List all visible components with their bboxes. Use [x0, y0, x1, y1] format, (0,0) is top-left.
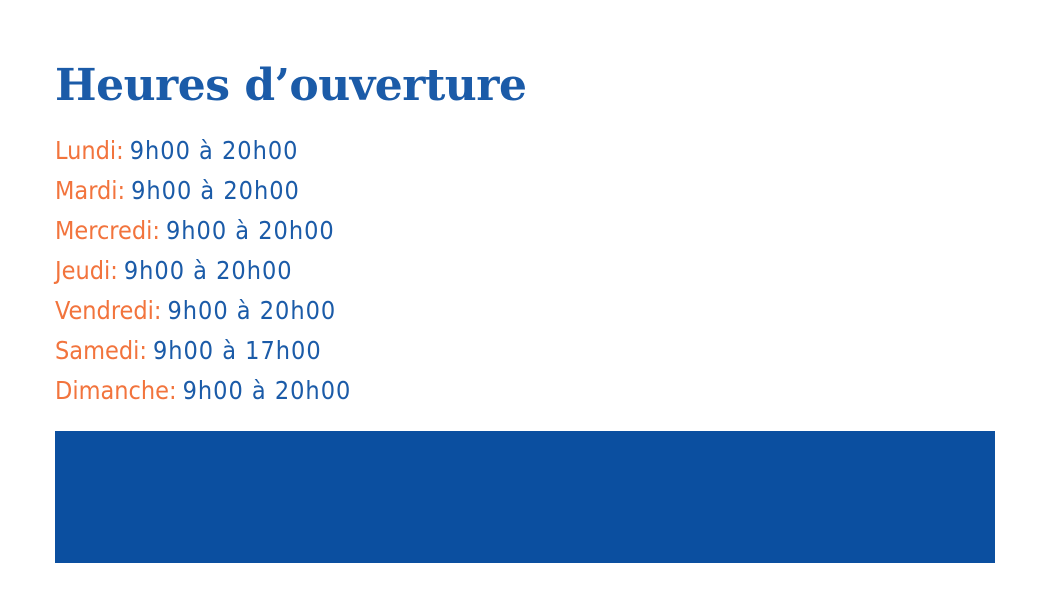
day-label: Mardi:: [55, 176, 125, 205]
day-hours: 9h00 à 20h00: [167, 296, 336, 325]
day-hours: 9h00 à 20h00: [166, 216, 335, 245]
day-hours: 9h00 à 20h00: [183, 376, 352, 405]
day-label: Mercredi:: [55, 216, 160, 245]
blue-content-block: [55, 431, 995, 563]
day-label: Lundi:: [55, 136, 124, 165]
day-hours: 9h00 à 20h00: [131, 176, 300, 205]
day-label: Dimanche:: [55, 376, 177, 405]
day-label: Vendredi:: [55, 296, 161, 325]
day-hours: 9h00 à 20h00: [130, 136, 299, 165]
list-item: Mardi:9h00 à 20h00: [55, 171, 655, 211]
list-item: Mercredi:9h00 à 20h00: [55, 211, 655, 251]
list-item: Samedi:9h00 à 17h00: [55, 331, 655, 371]
slide-canvas: Heures d’ouverture Lundi:9h00 à 20h00 Ma…: [0, 0, 1050, 600]
day-hours: 9h00 à 20h00: [124, 256, 293, 285]
day-hours: 9h00 à 17h00: [153, 336, 322, 365]
page-title: Heures d’ouverture: [55, 60, 526, 112]
list-item: Lundi:9h00 à 20h00: [55, 131, 655, 171]
list-item: Vendredi:9h00 à 20h00: [55, 291, 655, 331]
list-item: Dimanche:9h00 à 20h00: [55, 371, 655, 411]
day-label: Jeudi:: [55, 256, 118, 285]
day-label: Samedi:: [55, 336, 147, 365]
list-item: Jeudi:9h00 à 20h00: [55, 251, 655, 291]
opening-hours-list: Lundi:9h00 à 20h00 Mardi:9h00 à 20h00 Me…: [55, 131, 655, 411]
